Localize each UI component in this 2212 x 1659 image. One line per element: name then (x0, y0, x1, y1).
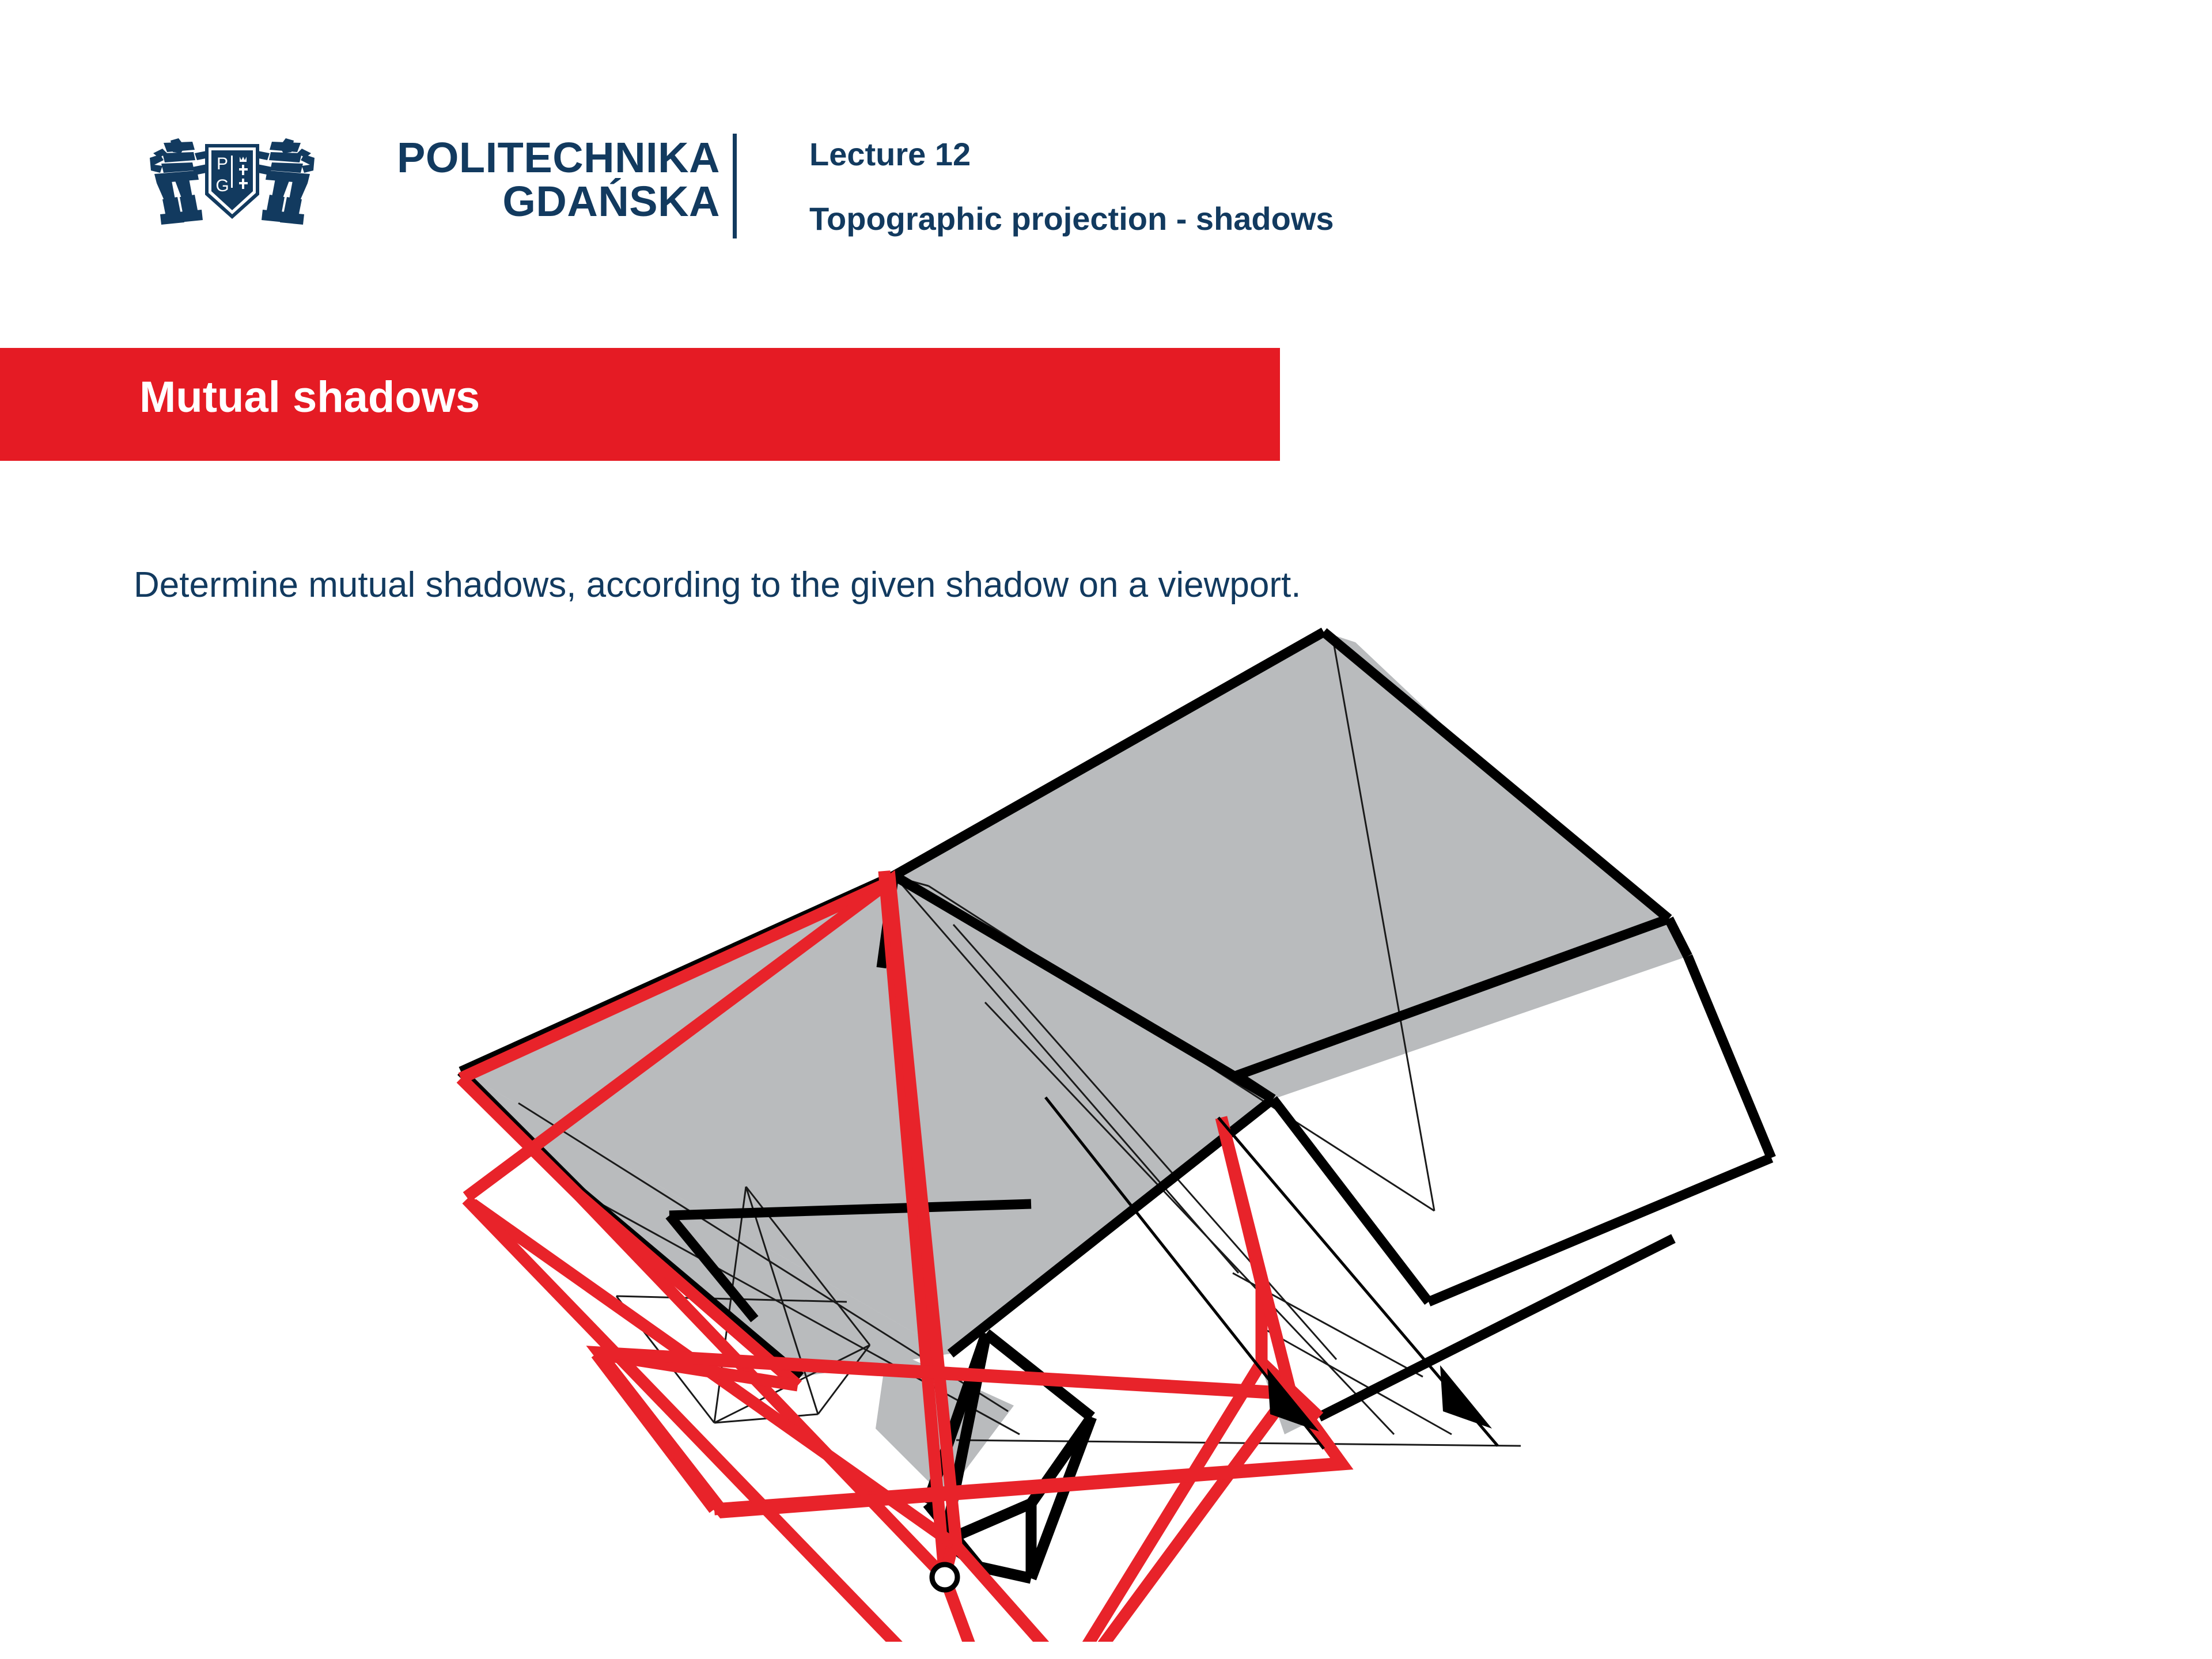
brand-wordmark-line-2: GDAŃSKA (369, 180, 720, 224)
header-titles: Lecture 12 Topographic projection - shad… (809, 138, 1334, 235)
vertical-divider (733, 134, 737, 238)
svg-text:P: P (217, 154, 228, 173)
brand-wordmark-line-1: POLITECHNIKA (369, 136, 720, 180)
section-banner: Mutual shadows (0, 348, 1280, 461)
slide-header: P G POLITECHNIKA GDAŃSKA Lecture 12 Topo… (0, 0, 2212, 323)
pg-crest-logo: P G (137, 128, 327, 232)
body-prompt-text: Determine mutual shadows, according to t… (134, 566, 1301, 605)
mutual-shadows-figure (0, 611, 2212, 1642)
svg-text:G: G (215, 176, 229, 195)
lecture-label: Lecture 12 (809, 138, 1334, 171)
subject-label: Topographic projection - shadows (809, 203, 1334, 235)
brand-wordmark: POLITECHNIKA GDAŃSKA (369, 136, 720, 224)
section-banner-title: Mutual shadows (139, 376, 480, 419)
shadow-point-marker-1 (932, 1565, 957, 1590)
